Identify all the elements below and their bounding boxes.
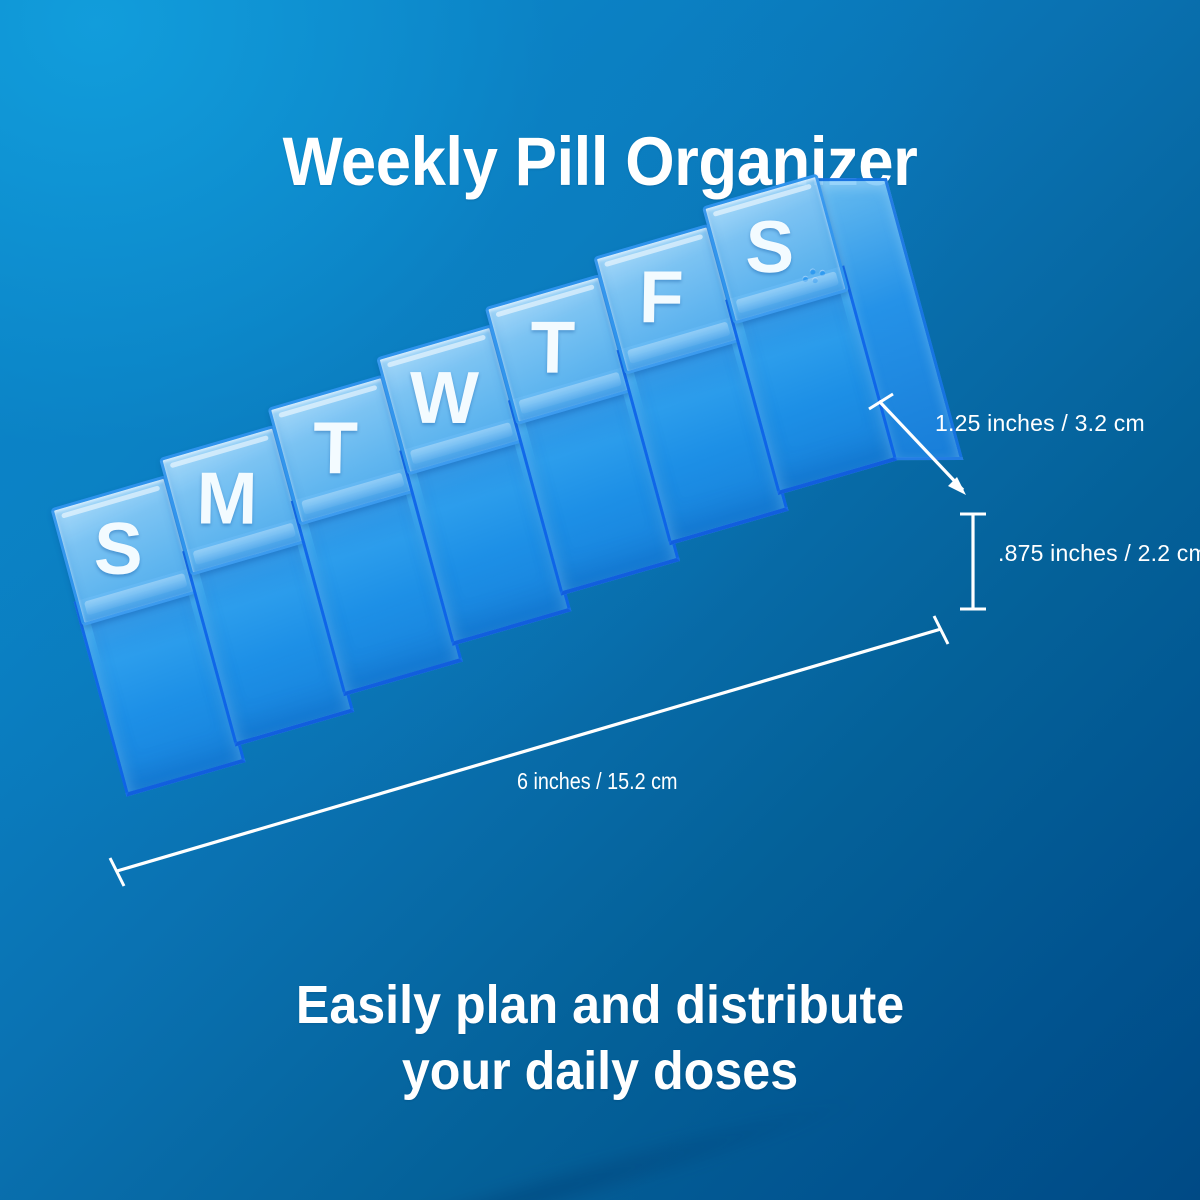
tagline-line-1: Easily plan and distribute [42,972,1158,1038]
lid-bumps-icon [800,263,833,287]
depth-dimension-label: 1.25 inches / 3.2 cm [935,410,1145,437]
infographic-canvas: Weekly Pill Organizer S M T [0,0,1200,1200]
pill-organizer-tray: S M T W T [20,159,952,723]
length-dimension-label: 6 inches / 15.2 cm [517,768,678,795]
tagline-line-2: your daily doses [42,1038,1158,1104]
tagline: Easily plan and distribute your daily do… [42,972,1158,1104]
height-dimension-label: .875 inches / 2.2 cm [998,540,1200,567]
page-title: Weekly Pill Organizer [48,122,1152,201]
product-image: S M T W T [72,398,952,878]
